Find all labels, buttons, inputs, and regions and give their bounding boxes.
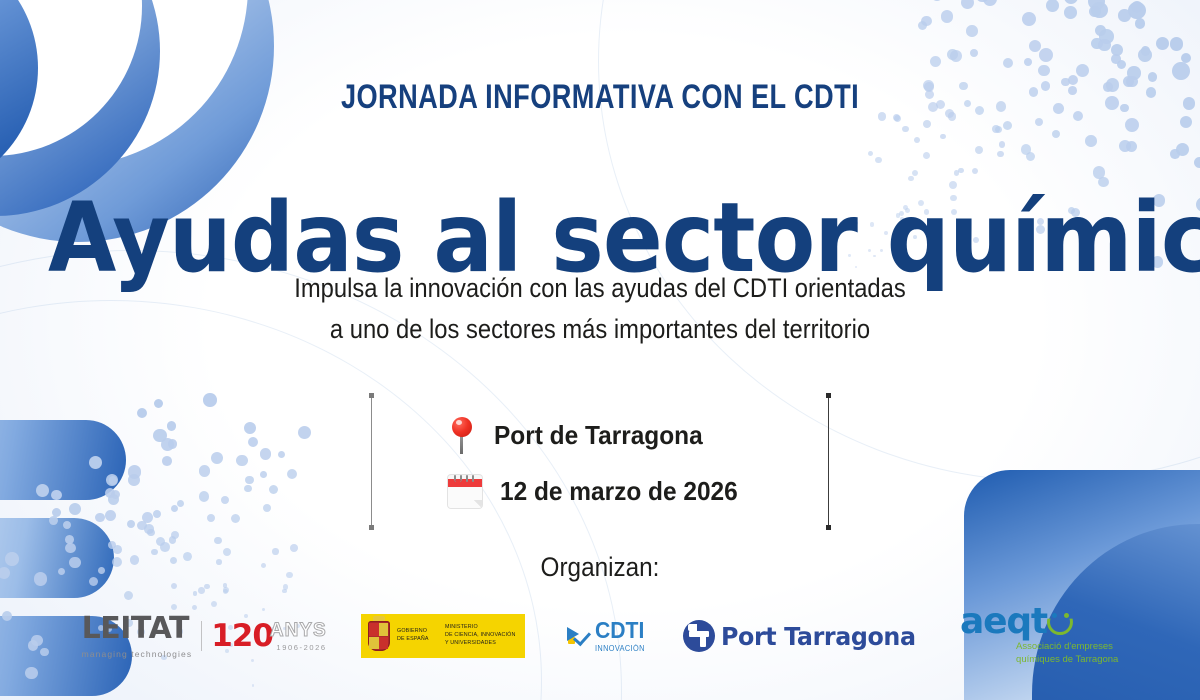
port-tarragona-icon — [683, 620, 715, 652]
calendar-icon — [448, 475, 482, 508]
logo-gobierno-espana: GOBIERNO DE ESPAÑA MINISTERIO DE CIENCIA… — [361, 614, 525, 658]
anniversary-years: 1906-2026 — [276, 643, 326, 652]
logo-aeqt: aeqt Associació d'empreses químiques de … — [960, 605, 1118, 667]
shield-quarter-3 — [369, 637, 379, 650]
leitat-wordmark-group: LEITAT managing technologies — [82, 614, 193, 659]
organizer-logo-strip: LEITAT managing technologies 120 ANYS 19… — [0, 596, 1200, 676]
shield-quarter-1 — [369, 623, 379, 636]
subtitle-line-1: Impulsa la innovación con las ayudas del… — [72, 268, 1128, 309]
anniversary-word: ANYS — [270, 621, 327, 640]
leitat-tagline: managing technologies — [82, 649, 193, 659]
detail-row-date: 12 de marzo de 2026 — [448, 475, 753, 508]
logo-leitat: LEITAT managing technologies 120 ANYS 19… — [82, 614, 327, 659]
calendar-marked-day — [454, 479, 462, 485]
aeqt-name: aeqt — [960, 605, 1047, 638]
port-icon-notch — [688, 624, 697, 631]
cdti-wordmark: CDTI INNOVACIÓN — [595, 619, 649, 653]
gobierno-label: GOBIERNO DE ESPAÑA — [397, 628, 429, 644]
aeqt-tagline: Associació d'empreses químiques de Tarra… — [1016, 641, 1118, 667]
calendar-ring-3 — [466, 475, 468, 482]
calendar-ring-4 — [472, 475, 474, 482]
cdti-arrow-icon — [565, 624, 591, 648]
leitat-divider — [201, 621, 202, 651]
smiley-eye-right — [1064, 613, 1069, 618]
divider-right — [828, 393, 829, 530]
aeqt-smiley-icon — [1047, 609, 1073, 635]
map-pin-icon — [448, 415, 476, 455]
anniversary-number: 120 — [211, 621, 273, 652]
cdti-name: CDTI — [595, 619, 644, 642]
logo-port-tarragona: Port Tarragona — [683, 620, 926, 652]
subtitle-line-2: a uno de los sectores más importantes de… — [72, 309, 1128, 350]
poster-canvas: JORNADA INFORMATIVA CON EL CDTI Ayudas a… — [0, 0, 1200, 700]
calendar-fold — [474, 500, 482, 508]
kicker-text: JORNADA INFORMATIVA CON EL CDTI — [120, 78, 1080, 117]
smiley-eye-left — [1052, 613, 1057, 618]
cdti-subtitle: INNOVACIÓN — [595, 644, 645, 653]
poster-content: JORNADA INFORMATIVA CON EL CDTI Ayudas a… — [0, 0, 1200, 700]
divider-left — [371, 393, 372, 530]
leitat-anniversary: 120 ANYS 1906-2026 — [211, 621, 327, 652]
coat-of-arms-icon — [368, 621, 390, 651]
shield-quarter-4 — [379, 637, 389, 650]
detail-row-location: Port de Tarragona — [448, 415, 753, 455]
gobierno-texts: GOBIERNO DE ESPAÑA MINISTERIO DE CIENCIA… — [397, 614, 518, 658]
shield-quarter-2 — [379, 623, 389, 636]
aeqt-wordmark: aeqt — [960, 605, 1073, 638]
calendar-header — [448, 479, 482, 487]
subtitle-text: Impulsa la innovación con las ayudas del… — [72, 268, 1128, 350]
port-icon-bar-horizontal — [689, 631, 709, 637]
event-details-block: Port de Tarragona 12 de marzo de 2026 — [0, 393, 1200, 530]
organizers-label: Organizan: — [60, 552, 1140, 583]
port-tarragona-name: Port Tarragona — [721, 622, 916, 651]
anniversary-group: ANYS 1906-2026 — [270, 621, 327, 652]
event-location: Port de Tarragona — [494, 420, 703, 451]
leitat-name: LEITAT — [82, 614, 189, 644]
event-details-rows: Port de Tarragona 12 de marzo de 2026 — [372, 393, 829, 530]
port-icon-bar-vertical — [700, 631, 706, 647]
logo-cdti: CDTI INNOVACIÓN — [559, 619, 649, 653]
smiley-mouth — [1047, 609, 1073, 635]
ministerio-label: MINISTERIO DE CIENCIA, INNOVACIÓN Y UNIV… — [445, 624, 516, 648]
map-pin-head — [452, 417, 472, 437]
map-pin-gloss — [456, 420, 462, 425]
event-date: 12 de marzo de 2026 — [500, 476, 738, 507]
